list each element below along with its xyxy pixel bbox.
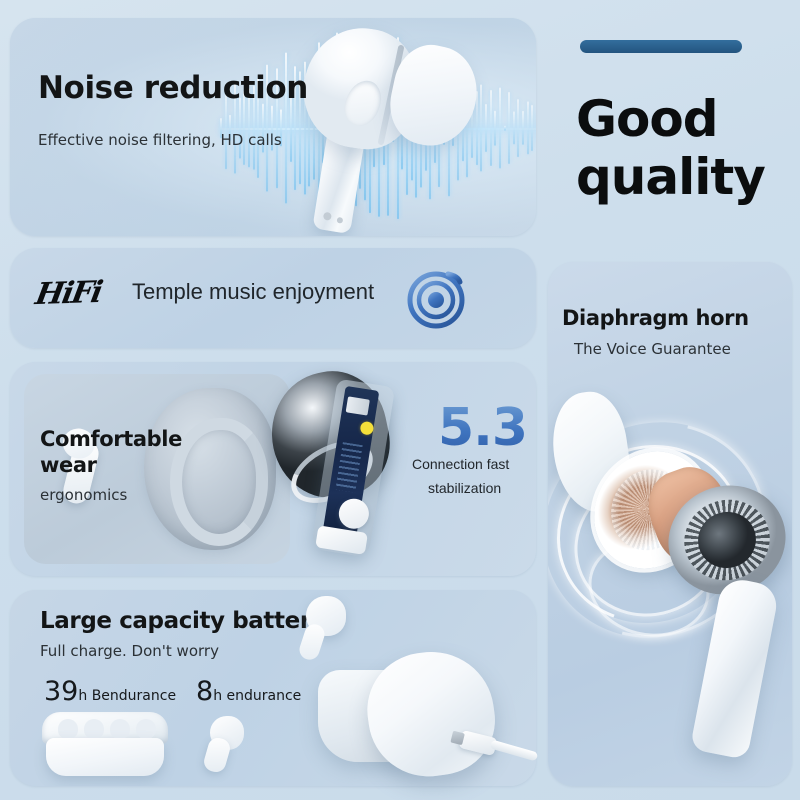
noise-title: Noise reduction [38, 70, 308, 106]
waveform-bar [239, 97, 241, 158]
battery-title: Large capacity battery [40, 608, 325, 634]
speaker-driver-exploded-render [548, 390, 792, 786]
waveform-bar [513, 112, 515, 145]
headline-block: Goodquality [548, 18, 792, 250]
waveform-bar [508, 92, 510, 164]
noise-subtitle: Effective noise filtering, HD calls [38, 131, 282, 149]
hifi-logo: HiFi [33, 275, 104, 312]
case-base [46, 738, 164, 776]
panel-diaphragm-horn: Diaphragm horn The Voice Guarantee [548, 262, 792, 786]
panel-noise-reduction: /* bars injected below */ Noise reductio… [10, 18, 536, 236]
waveform-bar [522, 111, 524, 145]
music-note-circles-icon [406, 266, 470, 330]
bluetooth-line-2: stabilization [428, 480, 501, 496]
waveform-bar [531, 105, 533, 151]
charging-case-open-small [42, 712, 168, 774]
battery-stat-single: 8h endurance [196, 676, 301, 707]
usb-c-cable [460, 734, 516, 748]
earbud-stem-foot [315, 525, 368, 555]
headline-text: Goodquality [576, 90, 765, 206]
diaphragm-title: Diaphragm horn [562, 306, 749, 330]
charging-case-with-cable-render [318, 648, 508, 788]
waveform-bar [517, 99, 519, 157]
comfort-title: Comfortablewear [40, 426, 182, 478]
battery-subtitle: Full charge. Don't worry [40, 642, 219, 660]
single-earbud-small [206, 716, 252, 772]
earbud-stem [202, 736, 233, 775]
product-infographic: /* bars injected below */ Noise reductio… [0, 0, 800, 800]
battery-stat-total: 39h Bendurance [44, 676, 176, 707]
transparent-earbud-circuit-render [268, 368, 428, 568]
diaphragm-subtitle: The Voice Guarantee [574, 340, 731, 358]
waveform-bar [527, 102, 529, 155]
case-lid [360, 644, 502, 784]
bluetooth-version-number: 5.3 [438, 398, 527, 458]
waveform-bar [480, 84, 482, 171]
waveform-bar [499, 87, 501, 168]
hifi-text: Temple music enjoyment [132, 279, 374, 305]
bluetooth-line-1: Connection fast [412, 456, 509, 472]
waveform-bar [485, 104, 487, 152]
waveform-bar [504, 125, 506, 130]
comfort-subtitle: ergonomics [40, 486, 127, 504]
waveform-bar [490, 90, 492, 166]
waveform-bar [494, 110, 496, 145]
earbud-render-noise [288, 28, 478, 233]
accent-bar [580, 40, 742, 53]
